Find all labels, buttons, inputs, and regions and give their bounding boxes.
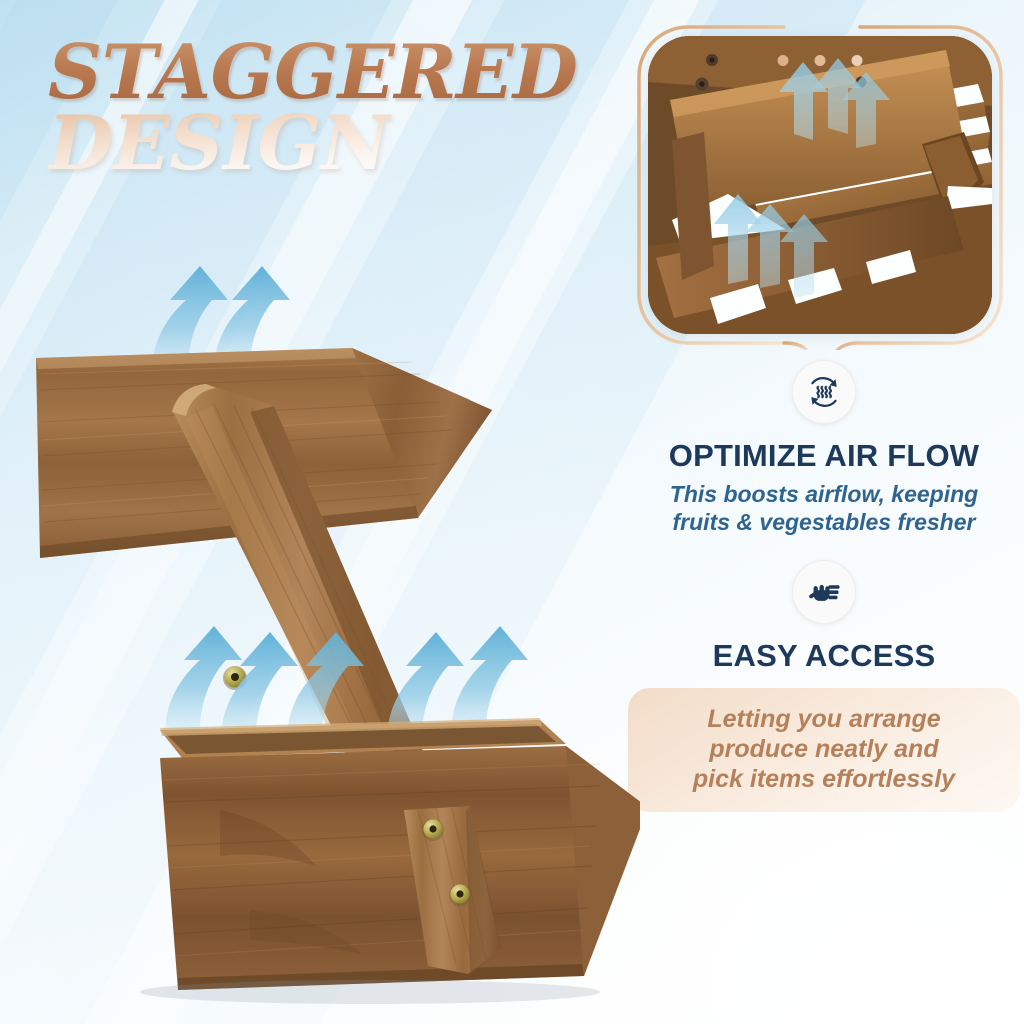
feature-easy-access: EASY ACCESS Letting you arrange produce … (628, 560, 1020, 812)
dot-2 (815, 55, 826, 66)
feature-description: This boosts airflow, keeping fruits & ve… (628, 480, 1020, 536)
feature-desc-line-1: This boosts airflow, keeping (628, 480, 1020, 508)
page-title: STAGGERED DESIGN (48, 38, 588, 178)
feature-desc-line-2: fruits & vegestables fresher (628, 508, 1020, 536)
product-illustration (0, 250, 640, 1024)
dot-3 (852, 55, 863, 66)
closeup-photo (648, 36, 992, 334)
headline-line-1: STAGGERED (48, 38, 588, 107)
feature-description-box: Letting you arrange produce neatly and p… (628, 688, 1020, 812)
feature-desc-line-1: Letting you arrange (640, 704, 1008, 734)
feature-title: OPTIMIZE AIR FLOW (628, 438, 1020, 474)
feature-description: Letting you arrange produce neatly and p… (640, 704, 1008, 794)
airflow-refresh-icon (792, 360, 856, 424)
headline-line-2: DESIGN (48, 109, 588, 178)
lower-tier-tray (160, 718, 640, 990)
hand-grab-icon (792, 560, 856, 624)
dot-1 (778, 55, 789, 66)
feature-desc-line-3: pick items effortlessly (640, 764, 1008, 794)
feature-title: EASY ACCESS (628, 638, 1020, 674)
closeup-card (632, 20, 1008, 350)
infographic-canvas: STAGGERED DESIGN (0, 0, 1024, 1024)
product-photo (0, 250, 640, 1024)
card-dots (778, 55, 863, 66)
feature-optimize-air-flow: OPTIMIZE AIR FLOW This boosts airflow, k… (628, 360, 1020, 536)
feature-desc-line-2: produce neatly and (640, 734, 1008, 764)
